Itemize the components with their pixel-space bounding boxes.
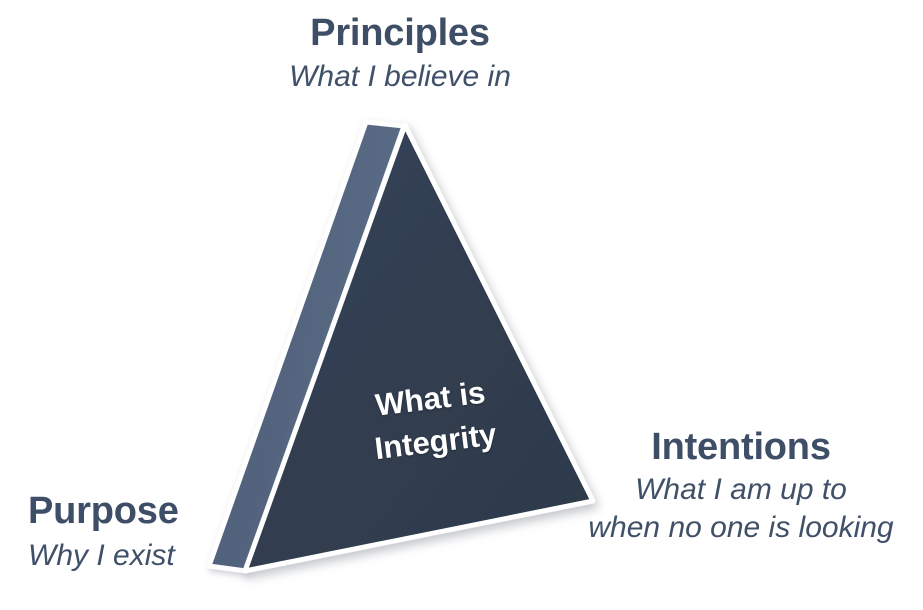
intentions-subtitle-line-2: when no one is looking <box>560 509 922 547</box>
diagram-canvas: What is Integrity Principles What I beli… <box>0 0 923 610</box>
intentions-subtitle: What I am up to when no one is looking <box>560 471 922 548</box>
intentions-subtitle-line-1: What I am up to <box>560 471 922 509</box>
vertex-label-purpose: Purpose Why I exist <box>28 492 179 575</box>
purpose-heading: Purpose <box>28 492 179 531</box>
purpose-subtitle: Why I exist <box>28 537 179 575</box>
principles-subtitle: What I believe in <box>0 58 800 96</box>
intentions-heading: Intentions <box>560 428 922 467</box>
vertex-label-intentions: Intentions What I am up to when no one i… <box>560 428 922 548</box>
principles-heading: Principles <box>0 14 800 53</box>
vertex-label-principles: Principles What I believe in <box>0 14 800 96</box>
